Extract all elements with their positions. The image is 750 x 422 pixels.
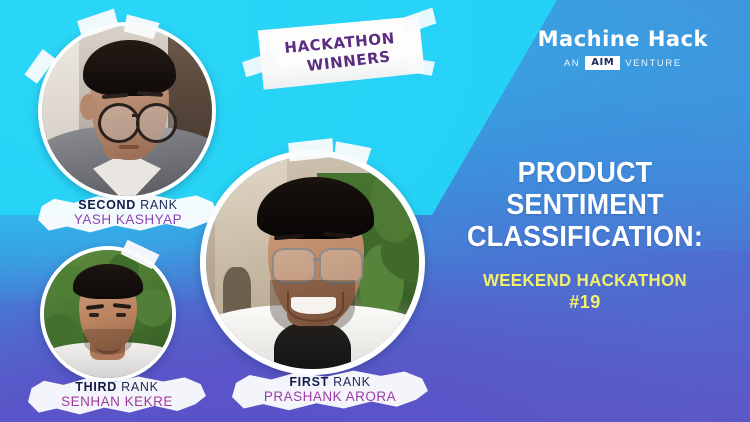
hackathon-winners-banner: HACKATHON WINNERS [256,16,425,90]
rank-label-third: RANK [121,380,159,394]
aim-venture-line: AN AIM VENTURE [538,56,708,70]
rank-label-first: RANK [333,375,371,389]
rank-word-first: FIRST [289,375,329,389]
label-third-rank: THIRD RANK SENHAN KEKRE [28,374,206,416]
avatar-third-rank-photo [44,250,172,378]
avatar-first-rank [200,150,425,375]
venture-label: VENTURE [625,58,682,69]
title-line-2: CLASSIFICATION: [435,222,734,254]
rank-word-second: SECOND [78,198,136,212]
winner-name-second: YASH KASHYAP [74,212,182,228]
machinehack-logo[interactable]: Machine Hack AN AIM VENTURE [538,29,708,70]
rank-word-third: THIRD [75,380,117,394]
rank-line-second: SECOND RANK [78,198,177,213]
avatar-second-rank [38,22,216,200]
machinehack-wordmark: Machine Hack [538,29,708,50]
edition-number: #19 [424,292,746,313]
subtitle: WEEKEND HACKATHON [430,269,739,291]
aim-logo: AIM [585,56,620,70]
an-label: AN [564,58,580,69]
rank-line-third: THIRD RANK [75,380,158,395]
label-second-rank: SECOND RANK YASH KASHYAP [38,192,218,234]
hackathon-winners-poster: Machine Hack AN AIM VENTURE HACKATHON WI… [0,0,750,422]
rank-label-second: RANK [140,198,178,212]
winner-name-third: SENHAN KEKRE [61,394,173,410]
title-line-1: PRODUCT SENTIMENT [435,158,734,222]
rank-line-first: FIRST RANK [289,375,370,390]
avatar-second-rank-photo [42,26,212,196]
headline-block: PRODUCT SENTIMENT CLASSIFICATION: WEEKEN… [424,158,746,313]
label-first-rank: FIRST RANK PRASHANK ARORA [232,368,428,412]
winner-name-first: PRASHANK ARORA [264,389,396,405]
avatar-first-rank-photo [206,156,419,369]
avatar-third-rank [40,246,176,382]
